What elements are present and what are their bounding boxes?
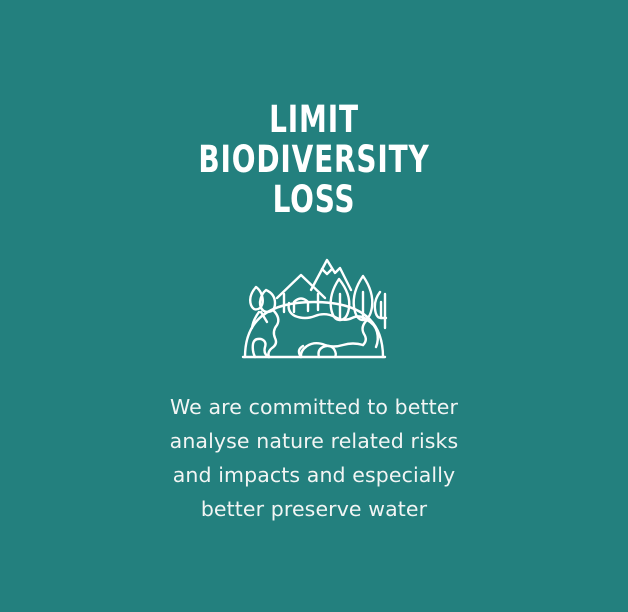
heading-line-2: BIODIVERSITY [50, 140, 578, 180]
heading-line-1: LIMIT [50, 100, 578, 140]
body-line-1: We are committed to better [0, 390, 628, 424]
shrub-icon [250, 287, 275, 328]
description-text: We are committed to better analyse natur… [0, 390, 628, 526]
page-title: LIMIT BIODIVERSITY LOSS [0, 100, 628, 220]
body-line-4: better preserve water [0, 492, 628, 526]
nature-globe-illustration [239, 250, 389, 365]
biodiversity-card: LIMIT BIODIVERSITY LOSS [0, 0, 628, 612]
body-line-3: and impacts and especially [0, 458, 628, 492]
mountain-peak-icon [311, 260, 351, 290]
body-line-2: analyse nature related risks [0, 424, 628, 458]
heading-line-3: LOSS [50, 180, 578, 220]
tree-edge-icon [375, 292, 386, 328]
tree-center-icon [331, 279, 350, 320]
